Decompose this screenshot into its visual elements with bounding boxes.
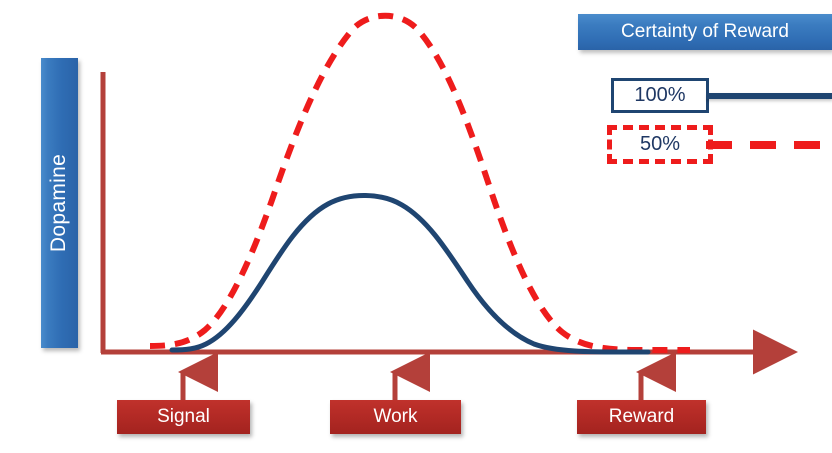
event-label-signal-text: Signal [157, 406, 210, 428]
event-label-work[interactable]: Work [330, 400, 461, 434]
chart-figure: Dopamine Certainty of Reward 10 [0, 0, 832, 453]
event-label-reward-text: Reward [609, 406, 674, 428]
legend-swatch-50[interactable]: 50% [607, 125, 713, 164]
legend-title-banner: Certainty of Reward [578, 14, 832, 50]
plot-area [0, 0, 832, 453]
event-label-work-text: Work [374, 406, 418, 428]
legend-label-50: 50% [640, 133, 680, 156]
legend-line-100 [706, 93, 832, 99]
event-label-signal[interactable]: Signal [117, 400, 250, 434]
legend-label-100: 100% [634, 84, 685, 107]
legend-swatch-100[interactable]: 100% [611, 78, 709, 113]
legend-line-50 [706, 141, 832, 149]
series-50-curve [150, 16, 690, 350]
event-label-reward[interactable]: Reward [577, 400, 706, 434]
legend-title-label: Certainty of Reward [621, 21, 789, 43]
